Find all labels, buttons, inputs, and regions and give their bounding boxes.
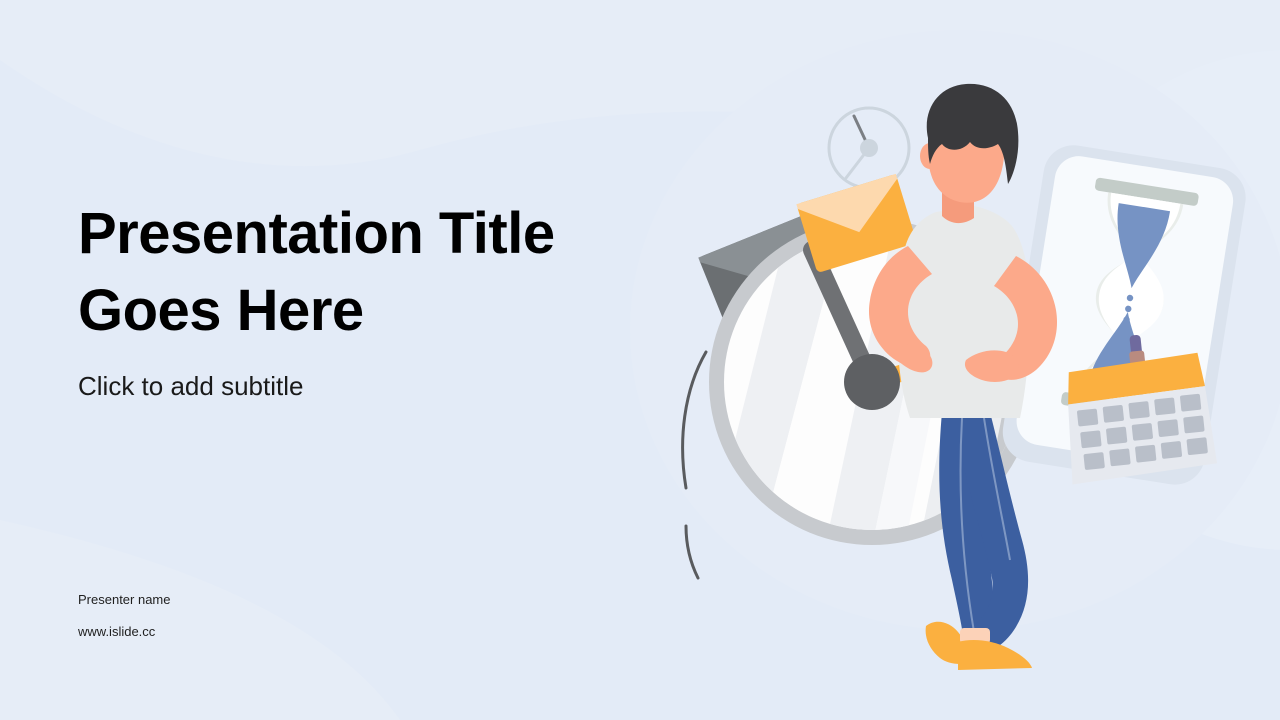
person-shirt — [897, 206, 1030, 418]
presenter-name[interactable]: Presenter name — [78, 592, 171, 608]
motion-arcs-icon — [683, 352, 706, 578]
small-outline-clock-icon — [829, 108, 909, 188]
presentation-slide: Presentation Title Goes Here Click to ad… — [0, 0, 1280, 720]
page-title[interactable]: Presentation Title Goes Here — [78, 196, 678, 349]
slide-footer: Presenter name www.islide.cc — [78, 592, 171, 639]
slide-subtitle[interactable]: Click to add subtitle — [78, 349, 678, 402]
shoe-right — [958, 640, 1032, 670]
website-url[interactable]: www.islide.cc — [78, 624, 171, 640]
bg-shape-bottom-left — [0, 520, 400, 720]
title-block: Presentation Title Goes Here Click to ad… — [78, 196, 678, 402]
time-management-illustration — [640, 60, 1280, 680]
clock-hub — [844, 354, 900, 410]
